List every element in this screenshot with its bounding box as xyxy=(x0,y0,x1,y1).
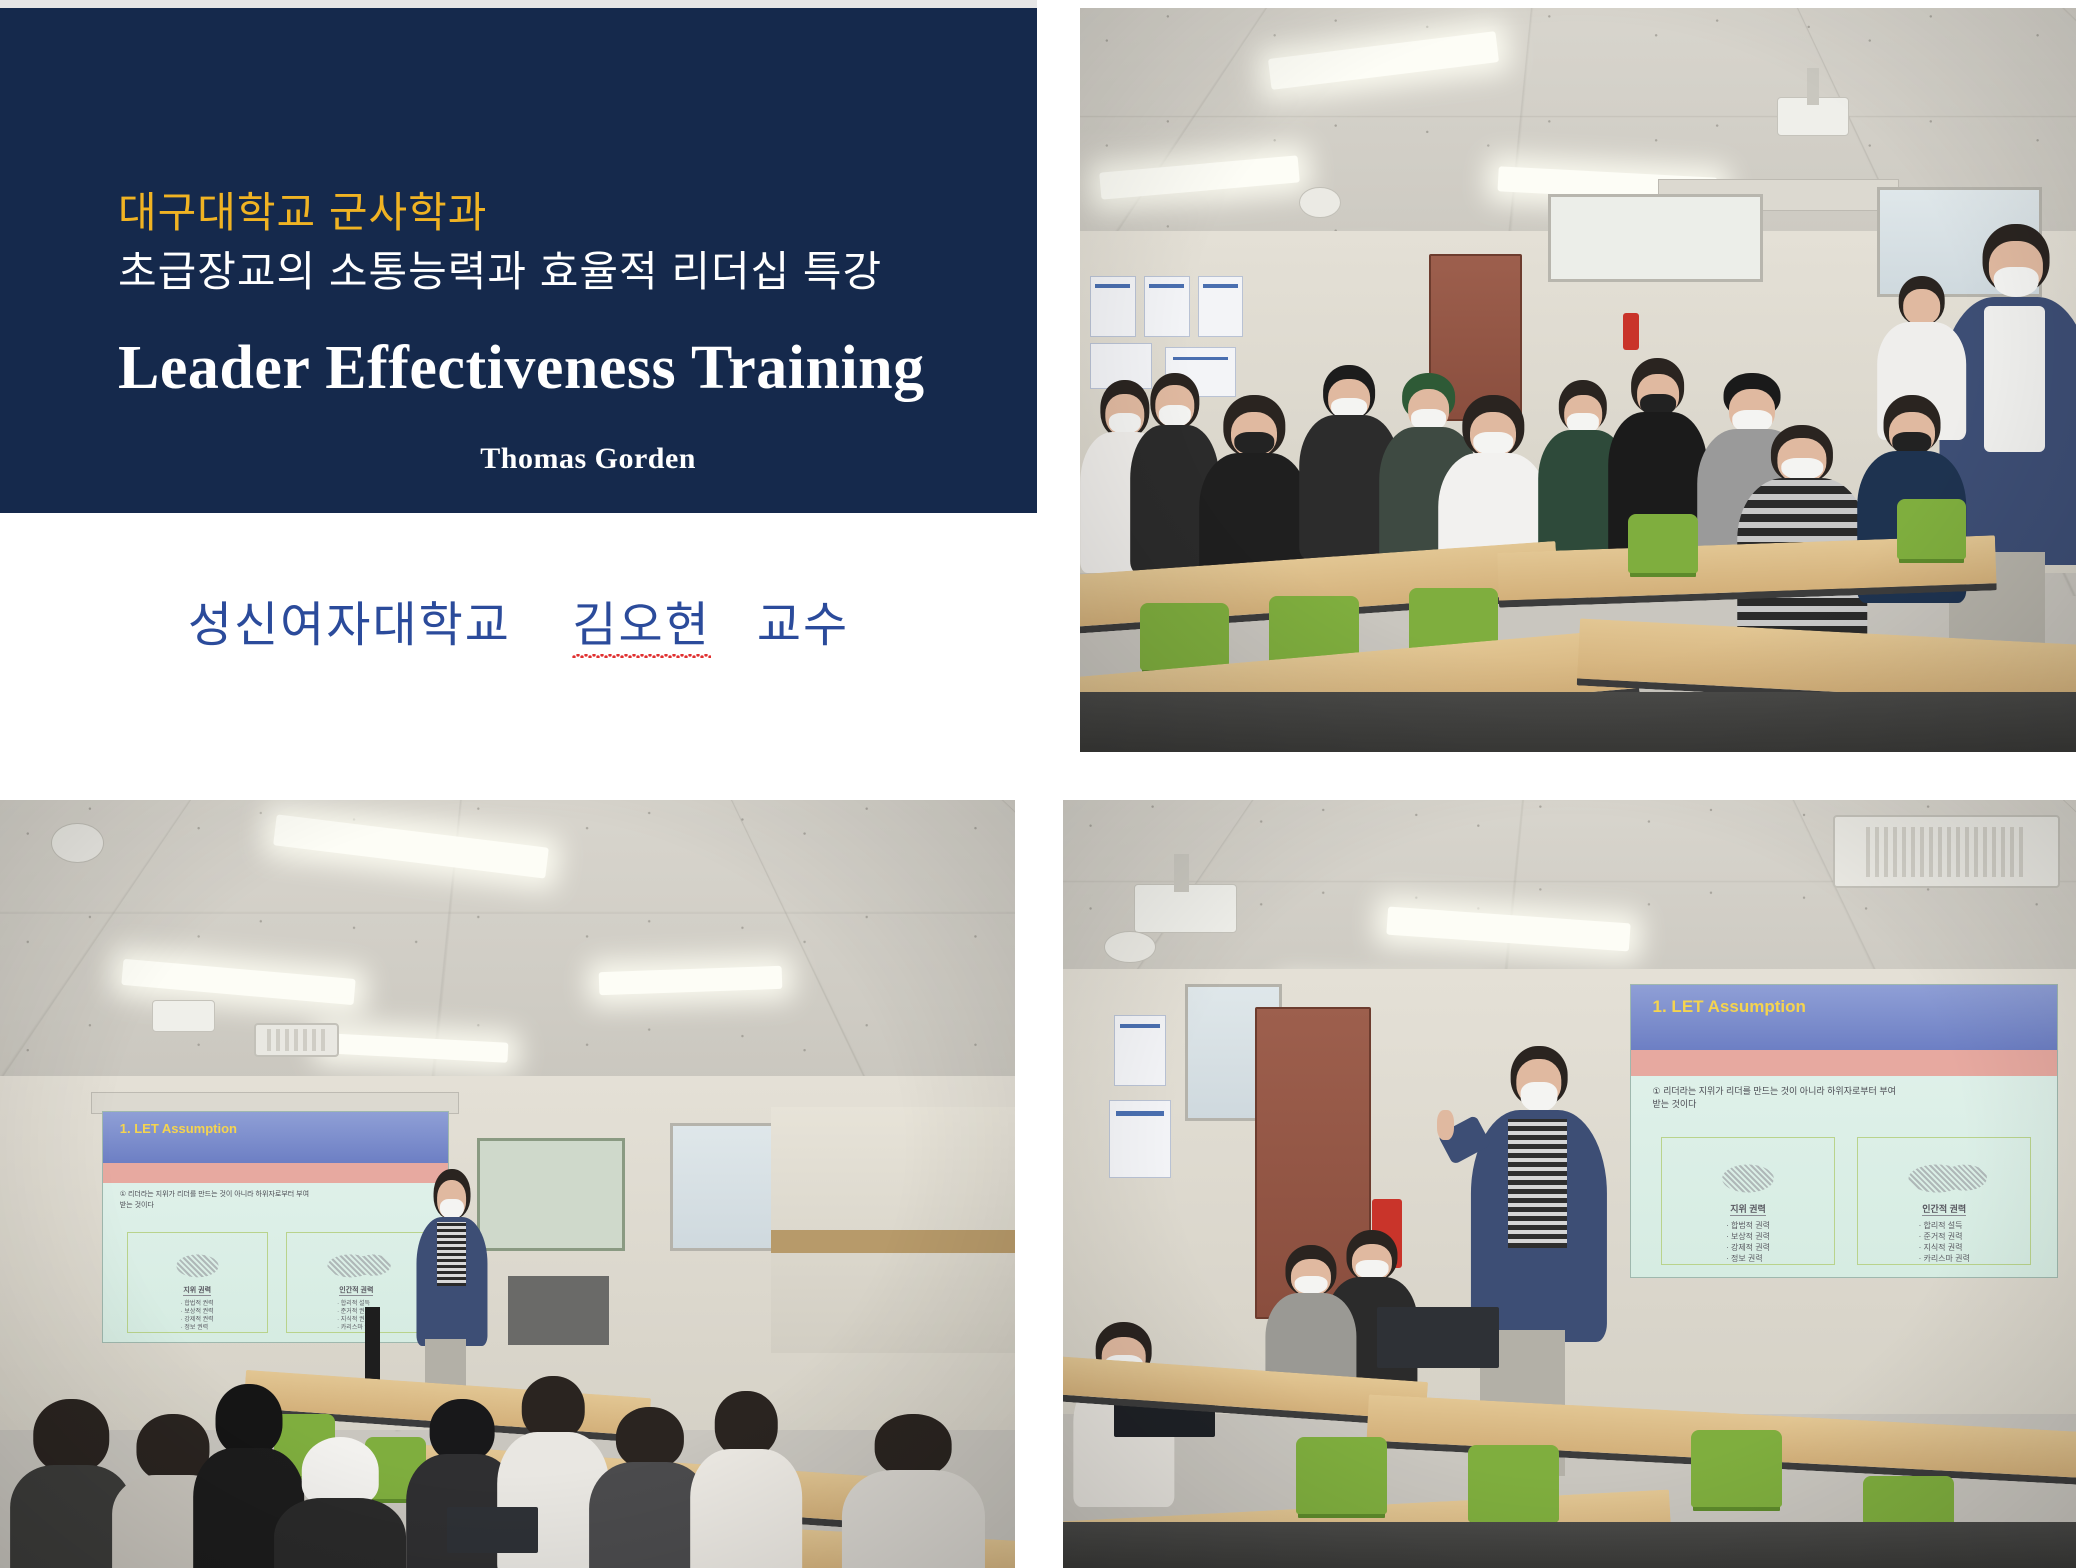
classroom-scene-wide: 1. LET Assumption ① 리더라는 지위가 리더를 만드는 것이 … xyxy=(0,800,1015,1568)
projection-screen: 1. LET Assumption ① 리더라는 지위가 리더를 만드는 것이 … xyxy=(102,1111,449,1343)
projection-screen: 1. LET Assumption ① 리더라는 지위가 리더를 만드는 것이 … xyxy=(1630,984,2057,1278)
chair xyxy=(1468,1445,1559,1522)
slide-box-position-power: 지위 권력 · 합법적 권력 · 보상적 권력 · 강제적 권력 · 정보 권력 xyxy=(1661,1137,1835,1265)
classroom-scene-lecturer: 1. LET Assumption ① 리더라는 지위가 리더를 만드는 것이 … xyxy=(1063,800,2076,1568)
lecture-subtitle-line: 초급장교의 소통능력과 효율적 리더십 특강 xyxy=(118,245,978,300)
standing-figures-illustration xyxy=(319,1245,394,1281)
photo-bottom-right: 1. LET Assumption ① 리더라는 지위가 리더를 만드는 것이 … xyxy=(1063,800,2076,1568)
slide-box-item: · 보상적 권력 xyxy=(1726,1232,1770,1243)
slide-body-line-1: ① 리더라는 지위가 리더를 만드는 것이 아니라 하위자로부터 부여 xyxy=(1653,1085,2040,1099)
photo-bottom-left: 1. LET Assumption ① 리더라는 지위가 리더를 만드는 것이 … xyxy=(0,800,1015,1568)
classroom-scene-audience xyxy=(1080,8,2076,752)
slide-comparison-boxes: 지위 권력 · 합법적 권력 · 보상적 권력 · 강제적 권력 · 정보 권력… xyxy=(1661,1137,2031,1265)
projector-mount xyxy=(1174,854,1188,892)
chair xyxy=(1897,499,1967,559)
slide-title: 1. LET Assumption xyxy=(120,1121,237,1136)
lecturer xyxy=(416,1169,487,1399)
slide-box-heading: 인간적 권력 xyxy=(339,1285,373,1296)
organization-line: 대구대학교 군사학과 xyxy=(118,186,978,241)
slide-body: ① 리더라는 지위가 리더를 만드는 것이 아니라 하위자로부터 부여 받는 것… xyxy=(120,1190,434,1211)
top-edge-strip xyxy=(0,0,1037,8)
slide-body: ① 리더라는 지위가 리더를 만드는 것이 아니라 하위자로부터 부여 받는 것… xyxy=(1653,1085,2040,1112)
audience-member xyxy=(274,1437,406,1568)
audience-member xyxy=(690,1391,802,1568)
slide-body-line-1: ① 리더라는 지위가 리더를 만드는 것이 아니라 하위자로부터 부여 xyxy=(120,1190,434,1201)
counter-edge xyxy=(771,1230,1015,1253)
wall-fixture xyxy=(1623,313,1639,350)
slide-box-item: · 카리스마 권력 xyxy=(1919,1254,1970,1265)
slide-box-heading: 지위 권력 xyxy=(1730,1202,1766,1216)
air-conditioner xyxy=(254,1023,339,1058)
laptop xyxy=(1377,1307,1499,1368)
slide-title: 1. LET Assumption xyxy=(1653,997,1806,1017)
chair xyxy=(1140,603,1230,670)
wall-notice xyxy=(1109,1100,1172,1179)
title-banner-text-block: 대구대학교 군사학과 초급장교의 소통능력과 효율적 리더십 특강 Leader… xyxy=(118,186,978,476)
slide-box-items: · 합리적 설득 · 준거적 권력 · 지식적 권력 · 카리스마 권력 xyxy=(1919,1221,1970,1264)
slide-box-items: · 합법적 권력 · 보상적 권력 · 강제적 권력 · 정보 권력 xyxy=(1726,1221,1770,1264)
slide-box-personal-power: 인간적 권력 · 합리적 설득 · 준거적 권력 · 지식적 권력 · 카리스마… xyxy=(286,1232,427,1333)
slide-box-item: · 합리적 설득 xyxy=(1919,1221,1970,1232)
slide-box-item: · 강제적 권력 xyxy=(1726,1243,1770,1254)
audience-member xyxy=(842,1414,984,1568)
floor xyxy=(1080,692,2076,752)
laptop xyxy=(447,1507,538,1553)
slide-body-line-2: 받는 것이다 xyxy=(120,1201,434,1212)
wall-poster xyxy=(1198,276,1244,338)
ceiling-speaker xyxy=(1104,931,1157,964)
projector-mount xyxy=(1807,68,1819,105)
slide-box-personal-power: 인간적 권력 · 합리적 설득 · 준거적 권력 · 지식적 권력 · 카리스마… xyxy=(1857,1137,2031,1265)
ceiling-speaker xyxy=(51,823,104,863)
presenter-line: 성신여자대학교 김오현 교수 xyxy=(0,585,1037,655)
slide-header-band xyxy=(103,1112,448,1163)
floor xyxy=(1063,1522,2076,1568)
chair xyxy=(1296,1437,1387,1514)
slide-box-item: · 강제적 권력 xyxy=(181,1316,214,1324)
slide-box-item: · 준거적 권력 xyxy=(1919,1232,1970,1243)
author-name: Thomas Gorden xyxy=(118,442,978,476)
slide-box-item: · 정보 권력 xyxy=(1726,1254,1770,1265)
podium xyxy=(508,1276,610,1345)
slide-body-line-2: 받는 것이다 xyxy=(1653,1098,2040,1112)
green-chalkboard xyxy=(477,1138,625,1252)
title-banner: 대구대학교 군사학과 초급장교의 소통능력과 효율적 리더십 특강 Leader… xyxy=(0,8,1037,513)
ceiling-speaker xyxy=(1299,187,1341,219)
wall-poster xyxy=(1114,1015,1167,1086)
slide-comparison-boxes: 지위 권력 · 합법적 권력 · 보상적 권력 · 강제적 권력 · 정보 권력… xyxy=(127,1232,427,1333)
slide-box-heading: 지위 권력 xyxy=(183,1285,211,1296)
wall-poster xyxy=(1144,276,1190,338)
seated-figure-illustration xyxy=(160,1245,235,1281)
slide-box-item: · 합법적 권력 xyxy=(181,1300,214,1308)
window xyxy=(670,1123,778,1252)
slide-box-heading: 인간적 권력 xyxy=(1922,1202,1966,1216)
audience-member xyxy=(1737,425,1866,648)
photo-top-right xyxy=(1080,8,2076,752)
slide-box-item: · 정보 권력 xyxy=(181,1324,214,1332)
slide-box-position-power: 지위 권력 · 합법적 권력 · 보상적 권력 · 강제적 권력 · 정보 권력 xyxy=(127,1232,268,1333)
seated-figure-illustration xyxy=(1702,1153,1795,1197)
standing-figures-illustration xyxy=(1898,1153,1991,1197)
presenter-name: 김오현 xyxy=(572,599,710,652)
page-title: Leader Effectiveness Training xyxy=(118,333,978,404)
chair xyxy=(1691,1430,1782,1507)
slide-accent-band xyxy=(103,1163,448,1184)
whiteboard xyxy=(1548,194,1763,282)
slide-box-items: · 합법적 권력 · 보상적 권력 · 강제적 권력 · 정보 권력 xyxy=(181,1300,214,1332)
chair xyxy=(1628,514,1698,574)
presenter-affiliation: 성신여자대학교 xyxy=(188,599,511,652)
slide-accent-band xyxy=(1631,1050,2056,1076)
presenter-role: 교수 xyxy=(757,599,849,652)
wall-poster xyxy=(1090,276,1136,338)
pointing-hand xyxy=(1437,1110,1454,1140)
slide-header-band xyxy=(1631,985,2056,1049)
air-conditioner xyxy=(1833,815,2060,888)
slide-box-item: · 보상적 권력 xyxy=(181,1308,214,1316)
slide-box-item: · 합법적 권력 xyxy=(1726,1221,1770,1232)
ceiling-projector xyxy=(152,1000,215,1033)
slide-box-item: · 지식적 권력 xyxy=(1919,1243,1970,1254)
